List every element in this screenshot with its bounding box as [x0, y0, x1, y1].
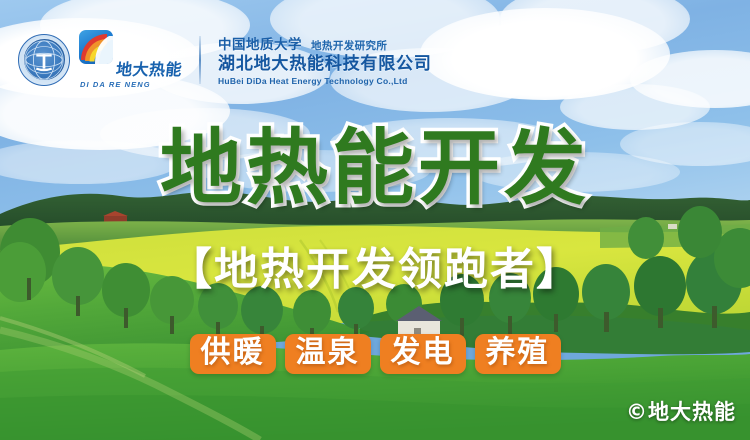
main-title: 地热能开发 [0, 128, 750, 210]
brand-header: 地大热能 DI DA RE NENG 中国地质大学 地热开发研究所 湖北地大热能… [18, 30, 432, 89]
service-badge-power[interactable]: 发电 [380, 334, 466, 374]
company-name-en: HuBei DiDa Heat Energy Technology Co.,Lt… [218, 76, 432, 86]
service-badge-heating[interactable]: 供暖 [190, 334, 276, 374]
dida-rainbow-mark-icon [79, 30, 113, 64]
service-badge-hot-spring[interactable]: 温泉 [285, 334, 371, 374]
company-logo-en: DI DA RE NENG [80, 80, 151, 89]
service-badge-list: 供暖 温泉 发电 养殖 [0, 334, 750, 374]
header-divider [199, 36, 201, 84]
company-logo: 地大热能 DI DA RE NENG [79, 30, 182, 89]
company-name: 湖北地大热能科技有限公司 [218, 55, 432, 75]
university-seal-icon [18, 34, 70, 86]
service-badge-breeding[interactable]: 养殖 [475, 334, 561, 374]
organization-text: 中国地质大学 地热开发研究所 湖北地大热能科技有限公司 HuBei DiDa H… [218, 33, 432, 87]
copyright-watermark: ©地大热能 [626, 396, 736, 426]
institute-name: 地热开发研究所 [311, 38, 387, 53]
subtitle: 【地热开发领跑者】 [0, 248, 750, 292]
university-name: 中国地质大学 [218, 33, 302, 53]
company-logo-cn: 地大热能 [115, 62, 183, 78]
geothermal-promo-banner: 地大热能 DI DA RE NENG 中国地质大学 地热开发研究所 湖北地大热能… [0, 0, 750, 440]
